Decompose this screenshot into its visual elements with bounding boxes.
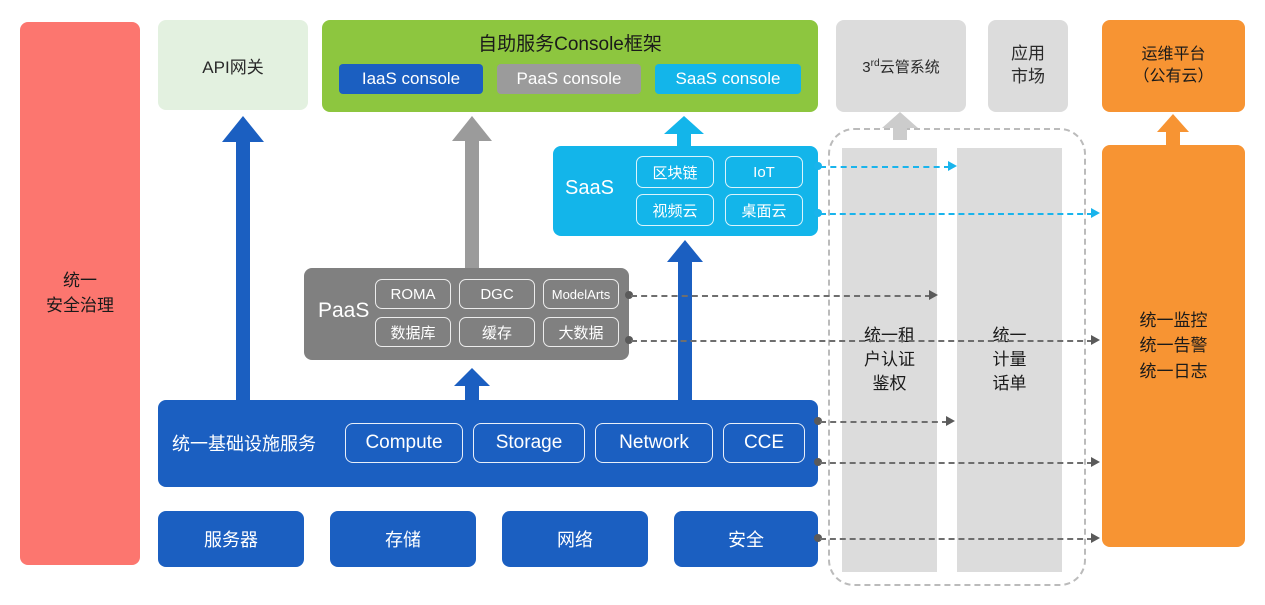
metering-line-2: 计量 bbox=[993, 348, 1027, 372]
security-line-2: 安全治理 bbox=[46, 294, 114, 319]
unified-security-governance-panel[interactable]: 统一 安全治理 bbox=[20, 22, 140, 565]
security-line-1: 统一 bbox=[46, 269, 114, 294]
app-market-line-2: 市场 bbox=[1011, 66, 1045, 89]
saas-layer-box[interactable]: SaaS 区块链 IoT 视频云 桌面云 bbox=[553, 146, 818, 236]
hardware-item-0-label: 服务器 bbox=[204, 526, 258, 552]
connector-infra-to-auth bbox=[820, 421, 948, 423]
hardware-item-2-label: 网络 bbox=[557, 526, 593, 552]
paas-service-4-label: 缓存 bbox=[482, 322, 512, 343]
infra-service-2-label: Network bbox=[619, 432, 689, 454]
connector-paas-to-ops bbox=[631, 340, 1093, 342]
connector-saas-to-auth bbox=[820, 166, 950, 168]
saas-console-chip[interactable]: SaaS console bbox=[655, 64, 801, 94]
connector-hardware-to-ops bbox=[820, 538, 1093, 540]
ops-side-line-3: 统一日志 bbox=[1140, 359, 1208, 385]
third-party-cloud-management-box[interactable]: 3rd云管系统 bbox=[836, 20, 966, 112]
hardware-storage-box[interactable]: 存储 bbox=[330, 511, 476, 567]
arrow-paas-to-console bbox=[452, 116, 492, 268]
third-party-cloud-management-label: 3rd云管系统 bbox=[862, 56, 939, 77]
paas-layer-box[interactable]: PaaS ROMA DGC ModelArts 数据库 缓存 大数据 bbox=[304, 268, 629, 360]
infra-service-1-label: Storage bbox=[496, 432, 563, 454]
saas-layer-label: SaaS bbox=[565, 177, 614, 200]
ops-side-line-1: 统一监控 bbox=[1140, 308, 1208, 334]
unified-infrastructure-label: 统一基础设施服务 bbox=[172, 430, 316, 456]
console-framework-title: 自助服务Console框架 bbox=[322, 29, 818, 56]
infra-service-network[interactable]: Network bbox=[595, 423, 713, 463]
paas-service-0-label: ROMA bbox=[391, 286, 436, 303]
connector-infra-to-ops bbox=[820, 462, 1093, 464]
paas-console-chip[interactable]: PaaS console bbox=[497, 64, 641, 94]
iaas-console-label: IaaS console bbox=[362, 69, 460, 89]
paas-service-database[interactable]: 数据库 bbox=[375, 317, 451, 347]
hardware-item-3-label: 安全 bbox=[728, 526, 764, 552]
app-market-line-1: 应用 bbox=[1011, 43, 1045, 66]
connector-arrowhead-paas-auth bbox=[929, 290, 938, 300]
paas-service-5-label: 大数据 bbox=[558, 322, 603, 343]
paas-service-1-label: DGC bbox=[480, 286, 513, 303]
arrow-saas-to-console bbox=[664, 116, 704, 146]
paas-service-dgc[interactable]: DGC bbox=[459, 279, 535, 309]
auth-line-1: 统一租 bbox=[864, 324, 915, 348]
paas-service-2-label: ModelArts bbox=[552, 287, 611, 302]
saas-service-blockchain[interactable]: 区块链 bbox=[636, 156, 714, 188]
connector-arrowhead-paas-ops bbox=[1091, 335, 1100, 345]
hardware-network-box[interactable]: 网络 bbox=[502, 511, 648, 567]
unified-infrastructure-service-bar[interactable]: 统一基础设施服务 Compute Storage Network CCE bbox=[158, 400, 818, 487]
paas-console-label: PaaS console bbox=[517, 69, 622, 89]
unified-metering-billing-column[interactable]: 统一 计量 话单 bbox=[957, 148, 1062, 572]
infra-service-storage[interactable]: Storage bbox=[473, 423, 585, 463]
saas-service-2-label: 视频云 bbox=[652, 200, 697, 221]
ops-side-line-2: 统一告警 bbox=[1140, 333, 1208, 359]
arrow-shared-to-third-party bbox=[882, 112, 918, 140]
infra-service-3-label: CCE bbox=[744, 432, 784, 454]
arrow-infra-to-paas bbox=[454, 368, 490, 400]
unified-monitoring-label: 统一监控 统一告警 统一日志 bbox=[1140, 308, 1208, 385]
saas-service-iot[interactable]: IoT bbox=[725, 156, 803, 188]
saas-service-0-label: 区块链 bbox=[652, 162, 697, 183]
auth-line-3: 鉴权 bbox=[864, 372, 915, 396]
infra-service-compute[interactable]: Compute bbox=[345, 423, 463, 463]
app-market-label: 应用 市场 bbox=[1011, 43, 1045, 89]
iaas-console-chip[interactable]: IaaS console bbox=[339, 64, 483, 94]
metering-line-1: 统一 bbox=[993, 324, 1027, 348]
saas-service-desktop-cloud[interactable]: 桌面云 bbox=[725, 194, 803, 226]
saas-service-3-label: 桌面云 bbox=[741, 200, 786, 221]
unified-security-governance-label: 统一 安全治理 bbox=[46, 269, 114, 318]
connector-arrowhead-saas-auth bbox=[948, 161, 957, 171]
infra-service-0-label: Compute bbox=[365, 432, 442, 454]
saas-service-video-cloud[interactable]: 视频云 bbox=[636, 194, 714, 226]
unified-metering-billing-label: 统一 计量 话单 bbox=[993, 324, 1027, 395]
paas-service-modelarts[interactable]: ModelArts bbox=[543, 279, 619, 309]
connector-paas-to-auth bbox=[631, 295, 931, 297]
metering-line-3: 话单 bbox=[993, 372, 1027, 396]
third-party-prefix: 3 bbox=[862, 59, 870, 76]
paas-service-cache[interactable]: 缓存 bbox=[459, 317, 535, 347]
self-service-console-framework-box[interactable]: 自助服务Console框架 IaaS console PaaS console … bbox=[322, 20, 818, 112]
unified-tenant-auth-column[interactable]: 统一租 户认证 鉴权 bbox=[842, 148, 937, 572]
hardware-security-box[interactable]: 安全 bbox=[674, 511, 818, 567]
ops-platform-line-2: （公有云） bbox=[1133, 66, 1213, 88]
connector-arrowhead-saas-ops bbox=[1091, 208, 1100, 218]
paas-layer-label: PaaS bbox=[318, 299, 369, 323]
ops-platform-public-cloud-box[interactable]: 运维平台 （公有云） bbox=[1102, 20, 1245, 112]
unified-tenant-auth-label: 统一租 户认证 鉴权 bbox=[864, 324, 915, 395]
arrow-ops-side-to-ops-top bbox=[1157, 114, 1189, 146]
api-gateway-box[interactable]: API网关 bbox=[158, 20, 308, 110]
connector-arrowhead-hardware-ops bbox=[1091, 533, 1100, 543]
unified-monitoring-panel[interactable]: 统一监控 统一告警 统一日志 bbox=[1102, 145, 1245, 547]
arrow-infra-to-saas bbox=[667, 240, 703, 400]
paas-service-roma[interactable]: ROMA bbox=[375, 279, 451, 309]
third-party-superscript: rd bbox=[871, 58, 880, 69]
connector-arrowhead-infra-ops bbox=[1091, 457, 1100, 467]
hardware-item-1-label: 存储 bbox=[385, 526, 421, 552]
infra-service-cce[interactable]: CCE bbox=[723, 423, 805, 463]
saas-console-label: SaaS console bbox=[676, 69, 781, 89]
auth-line-2: 户认证 bbox=[864, 348, 915, 372]
connector-arrowhead-infra-auth bbox=[946, 416, 955, 426]
paas-service-big-data[interactable]: 大数据 bbox=[543, 317, 619, 347]
ops-platform-line-1: 运维平台 bbox=[1133, 44, 1213, 66]
api-gateway-label: API网关 bbox=[202, 53, 263, 78]
saas-service-1-label: IoT bbox=[753, 164, 775, 181]
third-party-suffix: 云管系统 bbox=[880, 59, 940, 76]
hardware-server-box[interactable]: 服务器 bbox=[158, 511, 304, 567]
ops-platform-label: 运维平台 （公有云） bbox=[1133, 44, 1213, 87]
connector-saas-to-ops bbox=[820, 213, 1093, 215]
architecture-diagram-canvas: 统一 安全治理 API网关 自助服务Console框架 IaaS console… bbox=[0, 0, 1265, 605]
app-market-box[interactable]: 应用 市场 bbox=[988, 20, 1068, 112]
paas-service-3-label: 数据库 bbox=[390, 322, 435, 343]
arrow-infra-to-api-gateway bbox=[222, 116, 264, 400]
